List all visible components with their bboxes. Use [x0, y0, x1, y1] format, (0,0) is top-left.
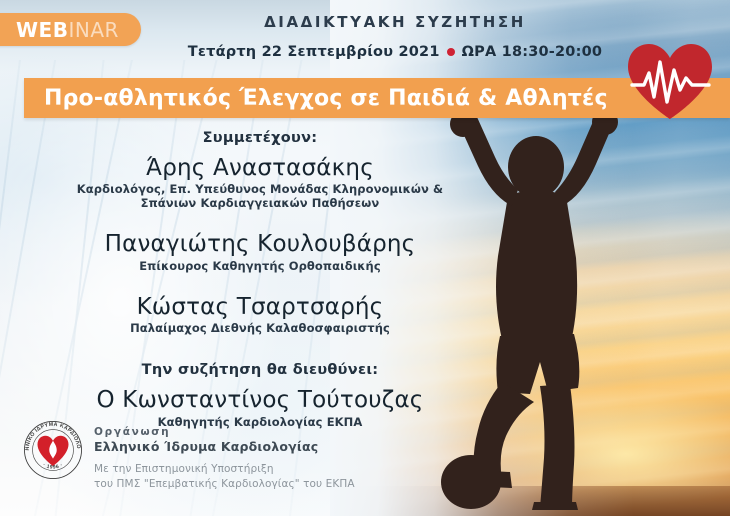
page-title: Προ-αθλητικός Έλεγχος σε Παιδιά & Αθλητέ…	[24, 86, 608, 111]
moderator-label: Την συζήτηση θα διευθύνει:	[40, 362, 480, 378]
support-text: Με την Επιστημονική Υποστήριξη του ΠΜΣ "…	[94, 462, 355, 492]
support-line-1: Με την Επιστημονική Υποστήριξη	[94, 462, 355, 477]
participant-name: Άρης Αναστασάκης	[40, 155, 480, 181]
participant-name: Κώστας Τσαρτσαρής	[40, 294, 480, 320]
event-dateline: Τετάρτη 22 Σεπτεμβρίου 2021 ΩΡΑ 18:30-20…	[185, 44, 605, 60]
participant-item: Παναγιώτης Κουλουβάρης Επίκουρος Καθηγητ…	[40, 231, 480, 272]
participant-role: Παλαίμαχος Διεθνής Καλαθοσφαιριστής	[40, 321, 480, 335]
participant-item: Άρης Αναστασάκης Καρδιολόγος, Επ. Υπεύθυ…	[40, 155, 480, 210]
footer-text-block: Οργάνωση Ελληνικό Ίδρυμα Καρδιολογίας Με…	[94, 419, 355, 492]
webinar-badge: WEB INAR	[0, 13, 141, 46]
organizer-label: Οργάνωση	[94, 425, 355, 439]
webinar-poster: WEB INAR ΔΙΑΔΙΚΤΥΑΚΗ ΣΥΖΗΤΗΣΗ Τετάρτη 22…	[0, 0, 730, 516]
webinar-badge-light: INAR	[68, 18, 118, 42]
participant-role: Επίκουρος Καθηγητής Ορθοπαιδικής	[40, 259, 480, 273]
moderator-name: Ο Κωνσταντίνος Τούτουζας	[40, 387, 480, 413]
participant-item: Κώστας Τσαρτσαρής Παλαίμαχος Διεθνής Καλ…	[40, 294, 480, 335]
support-line-2: του ΠΜΣ "Επεμβατικής Καρδιολογίας" του Ε…	[94, 477, 355, 492]
participants-label: Συμμετέχουν:	[40, 130, 480, 146]
webinar-badge-strong: WEB	[16, 18, 68, 42]
hellenic-heart-foundation-logo: ΕΛΛΗΝΙΚΟ ΙΔΡΥΜΑ ΚΑΡΔΙΟΛΟΓΙΑΣ · 1996 ·	[22, 419, 84, 481]
footer: ΕΛΛΗΝΙΚΟ ΙΔΡΥΜΑ ΚΑΡΔΙΟΛΟΓΙΑΣ · 1996 · Ορ…	[22, 419, 355, 492]
heart-ecg-icon	[624, 40, 716, 122]
event-type-heading: ΔΙΑΔΙΚΤΥΑΚΗ ΣΥΖΗΤΗΣΗ	[185, 13, 605, 31]
organizer-name: Ελληνικό Ίδρυμα Καρδιολογίας	[94, 439, 355, 455]
bullet-separator-icon	[447, 48, 455, 56]
participant-name: Παναγιώτης Κουλουβάρης	[40, 231, 480, 257]
participant-role: Καρδιολόγος, Επ. Υπεύθυνος Μονάδας Κληρο…	[40, 182, 480, 210]
event-date: Τετάρτη 22 Σεπτεμβρίου 2021	[188, 44, 440, 60]
program-block: Συμμετέχουν: Άρης Αναστασάκης Καρδιολόγο…	[40, 130, 480, 429]
event-time: ΩΡΑ 18:30-20:00	[462, 44, 603, 60]
